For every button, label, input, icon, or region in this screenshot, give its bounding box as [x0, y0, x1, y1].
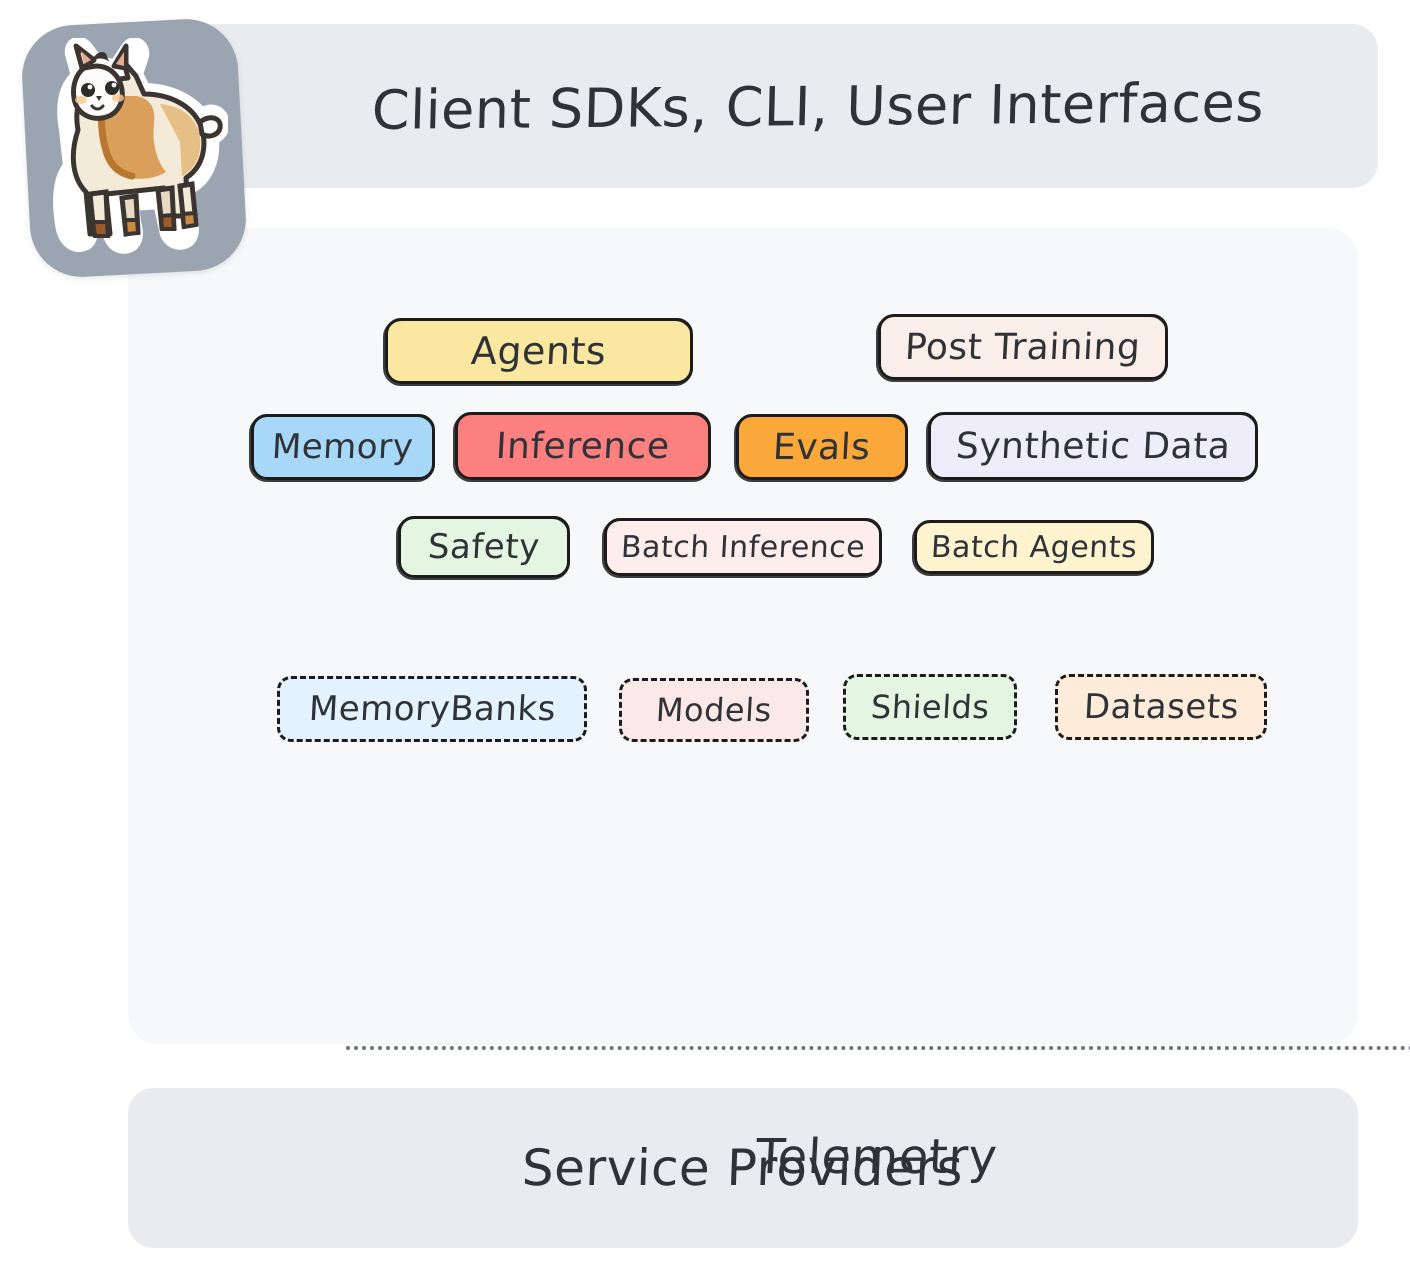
- api-box-inference[interactable]: Inference: [455, 412, 711, 480]
- api-box-label: Memory: [271, 427, 414, 467]
- resource-box-label: Models: [655, 691, 773, 729]
- api-box-post-training[interactable]: Post Training: [878, 314, 1168, 380]
- section-divider: [346, 1046, 1410, 1050]
- api-box-label: Safety: [427, 527, 541, 567]
- resource-box-memorybanks[interactable]: MemoryBanks: [277, 676, 587, 742]
- api-box-batch-inference[interactable]: Batch Inference: [604, 518, 882, 576]
- api-surface-panel: Agents Post Training Memory Inference Ev…: [128, 228, 1358, 1044]
- resource-box-label: MemoryBanks: [307, 689, 556, 729]
- api-box-label: Inference: [495, 426, 671, 467]
- api-box-label: Synthetic Data: [955, 426, 1232, 467]
- resource-box-datasets[interactable]: Datasets: [1055, 674, 1267, 740]
- api-box-label: Batch Inference: [620, 530, 866, 565]
- api-box-label: Agents: [470, 329, 608, 373]
- api-box-synthetic-data[interactable]: Synthetic Data: [928, 412, 1258, 480]
- service-providers-band: Service Providers: [128, 1088, 1358, 1248]
- api-box-evals[interactable]: Evals: [736, 414, 908, 480]
- resource-box-shields[interactable]: Shields: [843, 674, 1017, 740]
- api-box-label: Evals: [772, 427, 872, 468]
- llama-logo-icon: [40, 38, 228, 258]
- api-box-label: Post Training: [904, 327, 1141, 368]
- telemetry-label: Telemetry: [755, 1129, 999, 1185]
- api-box-safety[interactable]: Safety: [398, 516, 570, 578]
- api-box-batch-agents[interactable]: Batch Agents: [914, 520, 1154, 574]
- resource-box-label: Datasets: [1083, 687, 1240, 727]
- api-box-agents[interactable]: Agents: [385, 318, 693, 384]
- client-interfaces-band: Client SDKs, CLI, User Interfaces: [168, 24, 1378, 188]
- resource-box-models[interactable]: Models: [619, 678, 809, 742]
- page-title: Client SDKs, CLI, User Interfaces: [371, 71, 1265, 142]
- llama-logo-badge: [20, 17, 249, 280]
- api-box-memory[interactable]: Memory: [251, 414, 435, 480]
- api-box-label: Batch Agents: [930, 530, 1138, 565]
- resource-box-label: Shields: [870, 688, 991, 726]
